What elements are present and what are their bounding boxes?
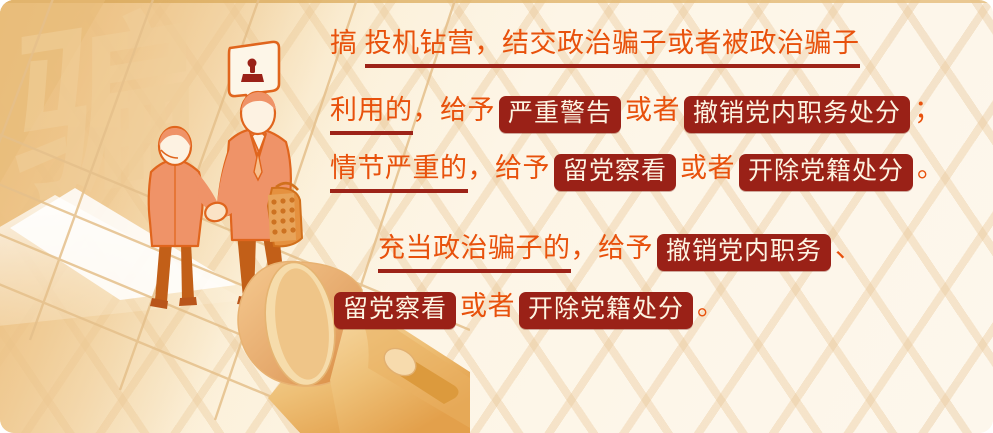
penalty-badge[interactable]: 严重警告 [499,96,621,133]
paragraph-2: 充当政治骗子的，给予撤销党内职务、留党察看或者开除党籍处分。 [330,226,970,342]
paragraph-1: 搞投机钻营，结交政治骗子或者被政治骗子利用的，给予严重警告或者撤销党内职务处分；… [330,30,970,204]
penalty-badge[interactable]: 撤销党内职务 [657,234,831,271]
text-line: 充当政治骗子的，给予撤销党内职务、 [330,226,970,284]
body-text: ，给予 [468,155,551,189]
penalty-badge[interactable]: 开除党籍处分 [739,154,913,191]
punctuation: 。 [697,284,725,330]
emphasis-text-underlined: 充当政治骗子的 [378,235,571,273]
text-line: 利用的，给予严重警告或者撤销党内职务处分； [330,88,970,146]
body-text: ，给予 [413,97,496,131]
body-text: 或者 [460,293,515,327]
poster-canvas: 骗 [0,0,993,433]
patterned-bag [268,183,302,246]
penalty-badge[interactable]: 留党察看 [554,154,676,191]
body-text: 或者 [680,155,735,189]
text-content: 搞投机钻营，结交政治骗子或者被政治骗子利用的，给予严重警告或者撤销党内职务处分；… [330,30,970,346]
penalty-badge[interactable]: 撤销党内职务处分 [684,96,910,133]
text-line: 情节严重的，给予留党察看或者开除党籍处分。 [330,146,970,204]
body-text: 搞 [330,30,358,64]
penalty-badge[interactable]: 开除党籍处分 [519,292,693,329]
text-line: 留党察看或者开除党籍处分。 [330,284,970,342]
text-line: 搞投机钻营，结交政治骗子或者被政治骗子 [330,30,970,88]
penalty-badge[interactable]: 留党察看 [334,292,456,329]
punctuation: 。 [917,146,945,192]
body-text: 或者 [625,97,680,131]
emphasis-text-underlined: 投机钻营，结交政治骗子或者被政治骗子 [365,30,860,68]
emphasis-text-underlined: 情节严重的 [330,155,468,193]
emphasis-text-underlined: 利用的 [330,97,413,135]
body-text: ，给予 [571,235,654,269]
punctuation: ； [914,88,942,134]
punctuation: 、 [835,226,863,272]
